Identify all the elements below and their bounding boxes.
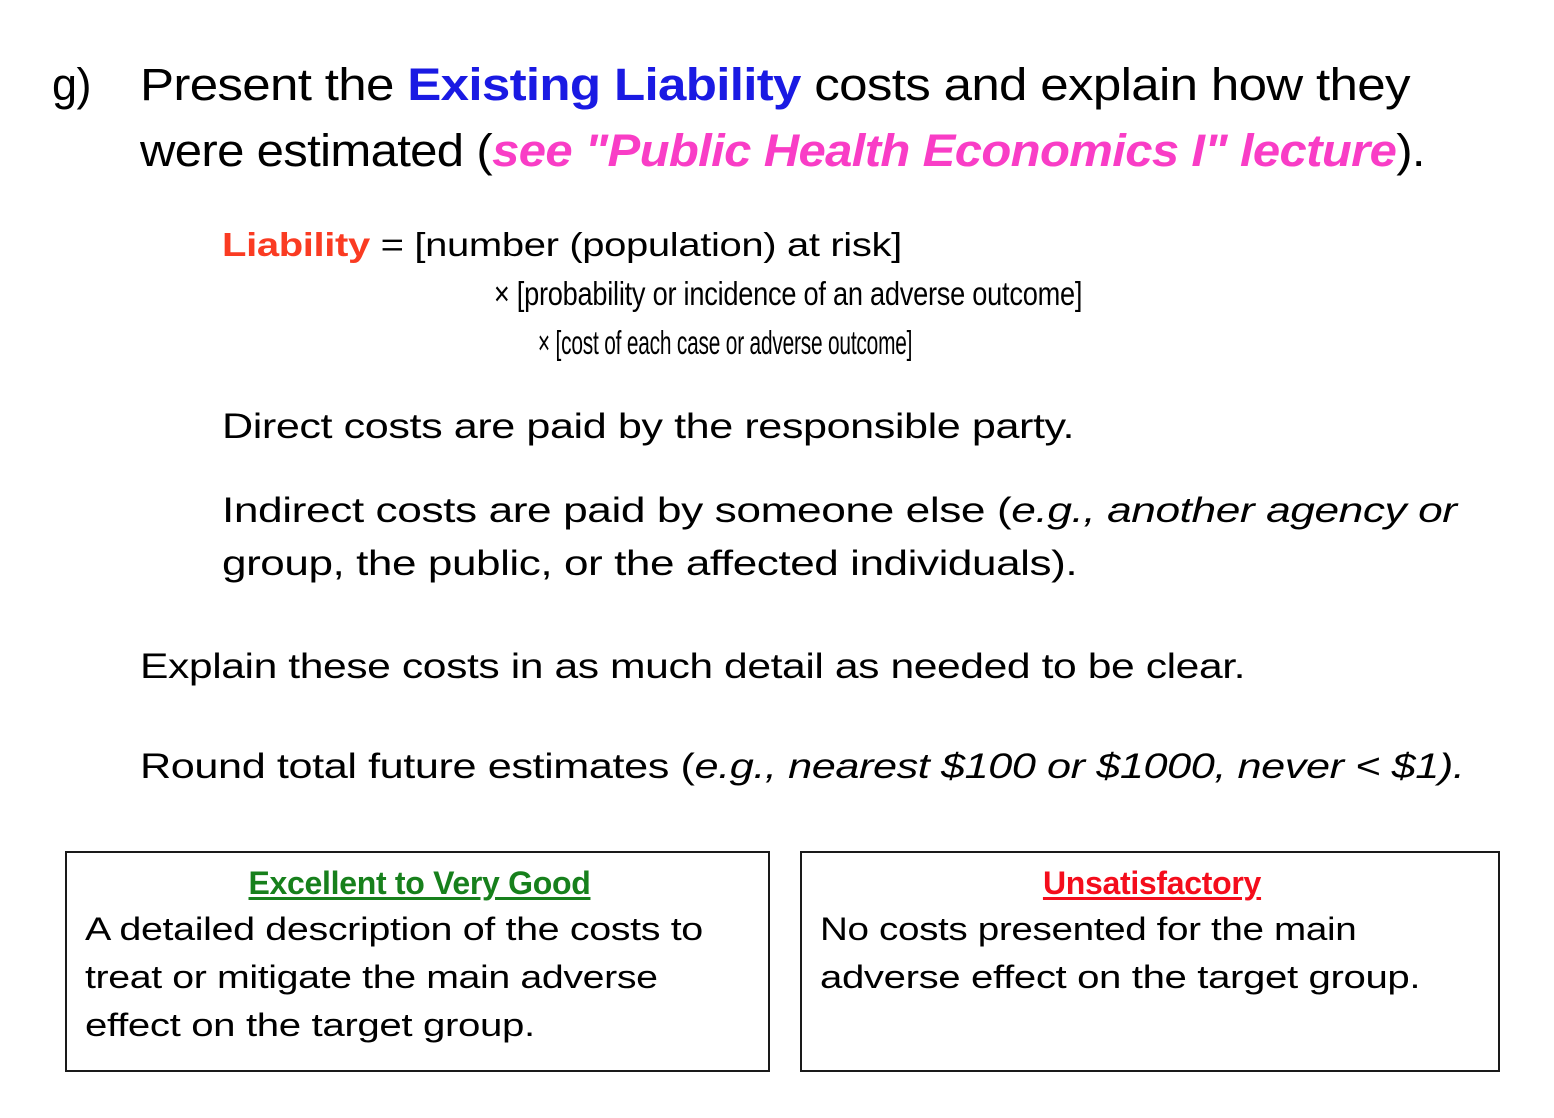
rubric-unsatisfactory-line-2: adverse effect on the target group. [820, 953, 1420, 1001]
rubric-excellent-line-1: A detailed description of the costs to [85, 905, 703, 953]
heading-emphasis-existing-liability: Existing Liability [407, 59, 801, 110]
indirect-costs-line-2: group, the public, or the affected indiv… [222, 537, 1077, 590]
formula-line-1: Liability = [number (population) at risk… [222, 220, 902, 269]
heading-line-1-pre: Present the [140, 59, 407, 110]
heading-line-1-post: costs and explain how they [801, 59, 1410, 110]
rubric-excellent-line-2: treat or mitigate the main adverse [85, 953, 658, 1001]
paragraph-direct-costs: Direct costs are paid by the responsible… [222, 400, 1472, 453]
question-heading: g) Present the Existing Liability costs … [52, 52, 1522, 184]
round-estimates-italic: e.g., nearest $100 or $1000, never < $1)… [695, 747, 1465, 786]
heading-line-2: were estimated (see "Public Health Econo… [140, 118, 1425, 184]
paragraph-explain-costs: Explain these costs in as much detail as… [140, 640, 1470, 693]
formula-term-liability: Liability [222, 226, 370, 263]
heading-line-2-post: ). [1396, 125, 1425, 176]
formula-line-3: × [cost of each case or adverse outcome] [222, 318, 912, 367]
liability-formula: Liability = [number (population) at risk… [222, 220, 1502, 367]
rubric-unsatisfactory-line-1: No costs presented for the main [820, 905, 1356, 953]
indirect-costs-italic: e.g., another agency or [1011, 491, 1456, 530]
formula-line-1-rest: = [number (population) at risk] [370, 226, 902, 263]
heading-line-1: Present the Existing Liability costs and… [140, 52, 1410, 118]
indirect-costs-prefix: Indirect costs are paid by someone else … [222, 491, 1011, 530]
paragraph-round-estimates: Round total future estimates (e.g., near… [140, 740, 1520, 793]
rubric-box-excellent: Excellent to Very Good A detailed descri… [65, 851, 770, 1072]
rubric-title-unsatisfactory: Unsatisfactory [820, 861, 1484, 905]
paragraph-indirect-costs: Indirect costs are paid by someone else … [222, 484, 1482, 590]
direct-costs-line: Direct costs are paid by the responsible… [222, 400, 1074, 453]
rubric-box-unsatisfactory: Unsatisfactory No costs presented for th… [800, 851, 1500, 1072]
round-estimates-prefix: Round total future estimates ( [140, 747, 695, 786]
explain-costs-line: Explain these costs in as much detail as… [140, 640, 1245, 693]
list-marker-g: g) [52, 52, 140, 118]
rubric-body-unsatisfactory: No costs presented for the main adverse … [820, 905, 1484, 1001]
indirect-costs-line-1: Indirect costs are paid by someone else … [222, 484, 1457, 537]
rubric-excellent-line-3: effect on the target group. [85, 1001, 535, 1049]
heading-emphasis-lecture-reference: see "Public Health Economics I" lecture [492, 125, 1396, 176]
rubric-title-excellent: Excellent to Very Good [85, 861, 754, 905]
heading-line-2-pre: were estimated ( [140, 125, 492, 176]
round-estimates-line: Round total future estimates (e.g., near… [140, 740, 1464, 793]
formula-line-2: × [probability or incidence of an advers… [222, 269, 1082, 318]
heading-row: g) Present the Existing Liability costs … [52, 52, 1522, 184]
rubric-body-excellent: A detailed description of the costs to t… [85, 905, 754, 1049]
heading-text: Present the Existing Liability costs and… [140, 52, 1522, 184]
